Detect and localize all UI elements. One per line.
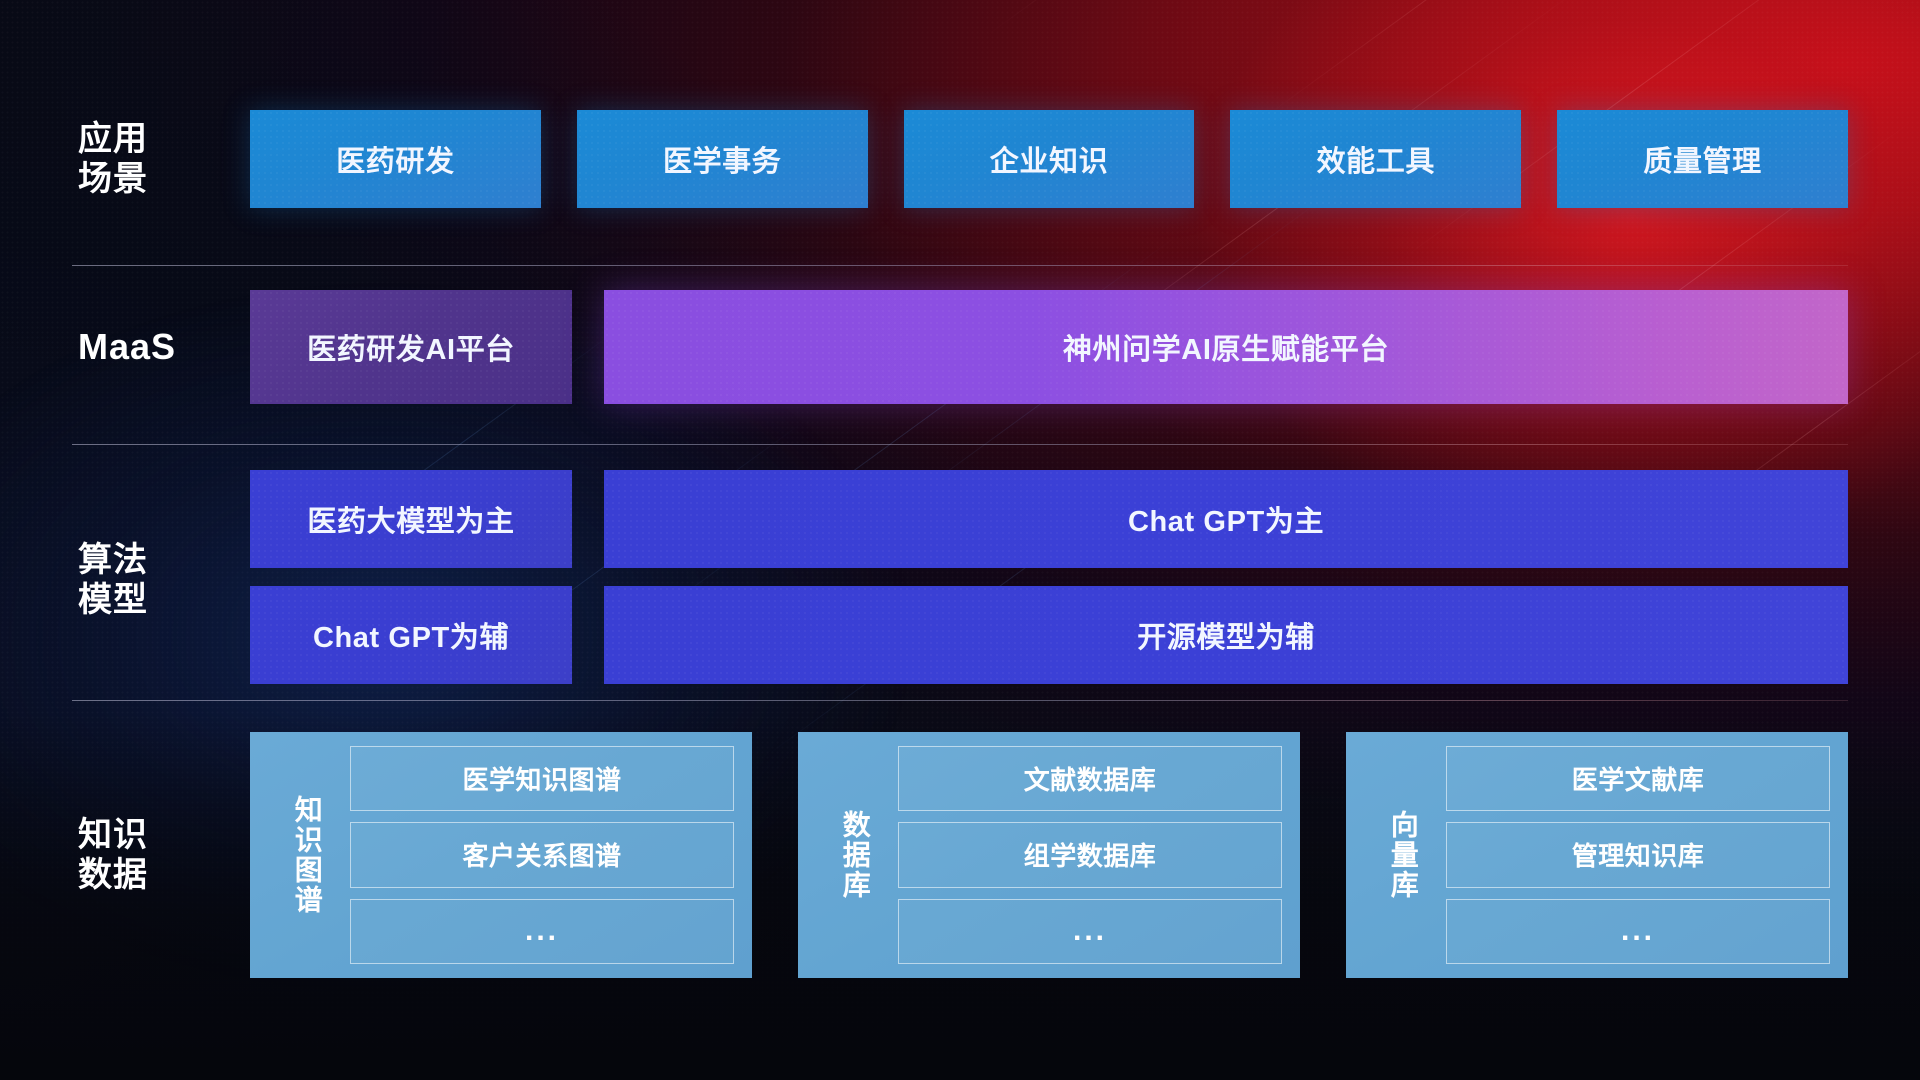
row-label-knowledge-data: 知识 数据 [78, 815, 228, 895]
app-card-4-label: 质量管理 [1643, 138, 1761, 180]
diagram-rows: 应用 场景 医药研发 医学事务 企业知识 效能工具 质量管理 MaaS 医药研发… [0, 0, 1920, 1080]
knowledge-group-graph-items: 医学知识图谱 客户关系图谱 ... [350, 746, 734, 964]
knowledge-group-graph[interactable]: 知识图谱 医学知识图谱 客户关系图谱 ... [250, 732, 752, 978]
knowledge-group-database[interactable]: 数据库 文献数据库 组学数据库 ... [798, 732, 1300, 978]
maas-card-drug-ai-platform-label: 医药研发AI平台 [307, 326, 515, 368]
maas-card-drug-ai-platform[interactable]: 医药研发AI平台 [250, 290, 572, 404]
app-card-2[interactable]: 企业知识 [904, 110, 1195, 208]
algo-card-opensource-secondary-label: 开源模型为辅 [1137, 614, 1315, 656]
app-card-0-label: 医药研发 [336, 138, 454, 180]
knowledge-item[interactable]: 文献数据库 [898, 746, 1282, 811]
knowledge-item[interactable]: 组学数据库 [898, 822, 1282, 887]
algo-card-chatgpt-primary-label: Chat GPT为主 [1128, 498, 1324, 540]
algo-card-chatgpt-secondary-label: Chat GPT为辅 [313, 614, 509, 656]
app-card-3-label: 效能工具 [1317, 138, 1435, 180]
knowledge-group-vector-title: 向量库 [1374, 746, 1432, 964]
maas-card-shenzhou-platform[interactable]: 神州问学AI原生赋能平台 [604, 290, 1848, 404]
algo-card-opensource-secondary[interactable]: 开源模型为辅 [604, 586, 1848, 684]
divider-1 [72, 265, 1848, 266]
architecture-diagram: 应用 场景 医药研发 医学事务 企业知识 效能工具 质量管理 MaaS 医药研发… [0, 0, 1920, 1080]
knowledge-item[interactable]: 管理知识库 [1446, 822, 1830, 887]
row-label-application-scenarios: 应用 场景 [78, 119, 228, 199]
maas-card-shenzhou-platform-label: 神州问学AI原生赋能平台 [1063, 326, 1389, 368]
row-label-algorithm-models: 算法 模型 [78, 540, 228, 620]
app-card-2-label: 企业知识 [990, 138, 1108, 180]
app-card-3[interactable]: 效能工具 [1230, 110, 1521, 208]
app-card-0[interactable]: 医药研发 [250, 110, 541, 208]
knowledge-group-database-items: 文献数据库 组学数据库 ... [898, 746, 1282, 964]
row-maas: MaaS 医药研发AI平台 神州问学AI原生赋能平台 [0, 290, 1920, 404]
knowledge-groups: 知识图谱 医学知识图谱 客户关系图谱 ... 数据库 文献数据库 组学数据库 .… [250, 732, 1848, 978]
knowledge-group-vector-items: 医学文献库 管理知识库 ... [1446, 746, 1830, 964]
row-algorithm-line-2: 算法 模型 Chat GPT为辅 开源模型为辅 [0, 586, 1920, 684]
knowledge-item-more[interactable]: ... [350, 899, 734, 964]
knowledge-item[interactable]: 客户关系图谱 [350, 822, 734, 887]
algo-card-pharma-model-primary-label: 医药大模型为主 [307, 498, 514, 540]
divider-2 [72, 444, 1848, 445]
knowledge-group-database-title: 数据库 [826, 746, 884, 964]
row-label-maas: MaaS [78, 326, 228, 368]
app-card-1[interactable]: 医学事务 [577, 110, 868, 208]
row-knowledge-data: 知识 数据 知识图谱 医学知识图谱 客户关系图谱 ... 数据库 文献数据库 [0, 732, 1920, 978]
app-card-1-label: 医学事务 [663, 138, 781, 180]
knowledge-group-graph-title: 知识图谱 [278, 746, 336, 964]
row-application-scenarios: 应用 场景 医药研发 医学事务 企业知识 效能工具 质量管理 [0, 110, 1920, 208]
maas-cards: 医药研发AI平台 神州问学AI原生赋能平台 [250, 290, 1848, 404]
algo-card-pharma-model-primary[interactable]: 医药大模型为主 [250, 470, 572, 568]
knowledge-item[interactable]: 医学知识图谱 [350, 746, 734, 811]
app-card-4[interactable]: 质量管理 [1557, 110, 1848, 208]
algo-card-chatgpt-primary[interactable]: Chat GPT为主 [604, 470, 1848, 568]
divider-3 [72, 700, 1848, 701]
knowledge-item[interactable]: 医学文献库 [1446, 746, 1830, 811]
algo-card-chatgpt-secondary[interactable]: Chat GPT为辅 [250, 586, 572, 684]
row-algorithm-line-1: 医药大模型为主 Chat GPT为主 [0, 470, 1920, 568]
algorithm-cards-line-2: Chat GPT为辅 开源模型为辅 [250, 586, 1848, 684]
knowledge-item-more[interactable]: ... [898, 899, 1282, 964]
knowledge-item-more[interactable]: ... [1446, 899, 1830, 964]
knowledge-group-vector[interactable]: 向量库 医学文献库 管理知识库 ... [1346, 732, 1848, 978]
application-scenario-cards: 医药研发 医学事务 企业知识 效能工具 质量管理 [250, 110, 1848, 208]
algorithm-cards-line-1: 医药大模型为主 Chat GPT为主 [250, 470, 1848, 568]
